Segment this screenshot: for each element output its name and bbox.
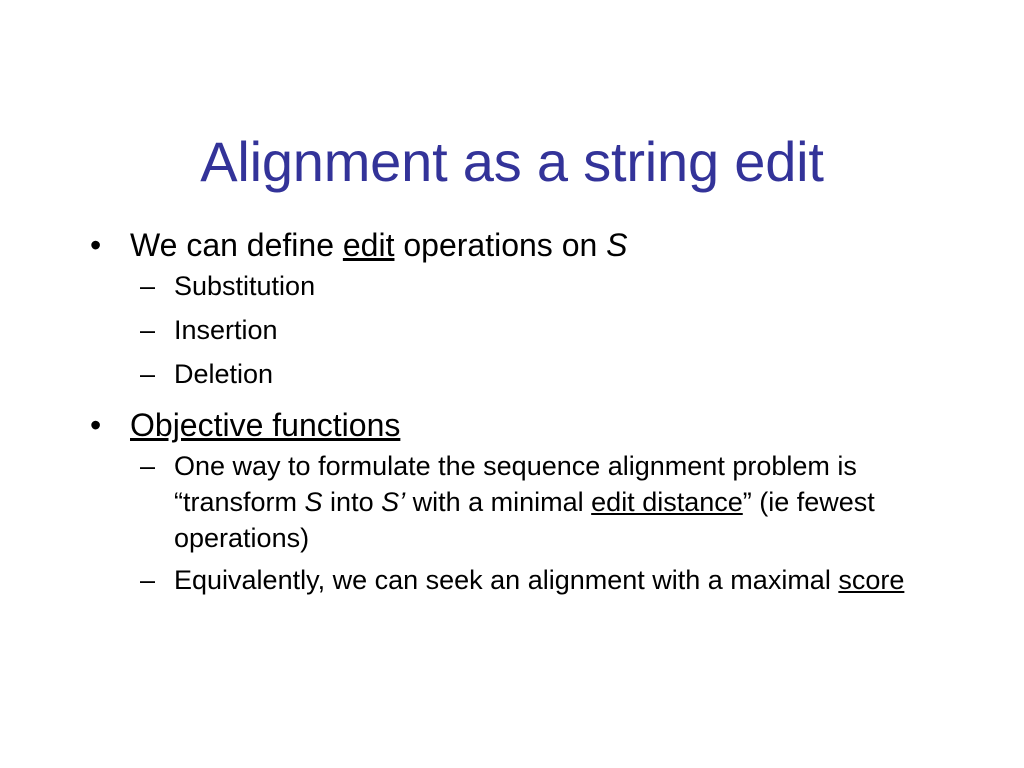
- slide-body: • We can define edit operations on S – S…: [84, 224, 944, 598]
- sub-bullet-formulate-sequence-alignment: – One way to formulate the sequence alig…: [84, 448, 944, 556]
- sub-bullet-text: One way to formulate the sequence alignm…: [174, 451, 875, 553]
- sub-bullet-text: Equivalently, we can seek an alignment w…: [174, 565, 904, 595]
- sub-bullet-maximal-score: – Equivalently, we can seek an alignment…: [84, 562, 944, 598]
- sub-bullet-insertion: – Insertion: [84, 312, 944, 348]
- dash-marker-icon: –: [140, 562, 155, 598]
- dash-marker-icon: –: [140, 268, 155, 304]
- bullet-text: Objective functions: [130, 407, 400, 443]
- bullet-marker-icon: •: [90, 224, 101, 266]
- sub-bullet-text: Substitution: [174, 271, 315, 301]
- sub-bullet-text: Deletion: [174, 359, 273, 389]
- slide: Alignment as a string edit • We can defi…: [0, 0, 1024, 768]
- bullet-marker-icon: •: [90, 404, 101, 446]
- dash-marker-icon: –: [140, 356, 155, 392]
- sub-bullet-group-operations: – Substitution – Insertion – Deletion: [84, 268, 944, 392]
- dash-marker-icon: –: [140, 448, 155, 484]
- spacer: [84, 392, 944, 404]
- sub-bullet-substitution: – Substitution: [84, 268, 944, 304]
- bullet-text: We can define edit operations on S: [130, 227, 628, 263]
- bullet-define-edit-operations: • We can define edit operations on S: [84, 224, 944, 266]
- sub-bullet-deletion: – Deletion: [84, 356, 944, 392]
- bullet-objective-functions: • Objective functions: [84, 404, 944, 446]
- sub-bullet-group-objectives: – One way to formulate the sequence alig…: [84, 448, 944, 598]
- dash-marker-icon: –: [140, 312, 155, 348]
- sub-bullet-text: Insertion: [174, 315, 278, 345]
- slide-title: Alignment as a string edit: [0, 134, 1024, 190]
